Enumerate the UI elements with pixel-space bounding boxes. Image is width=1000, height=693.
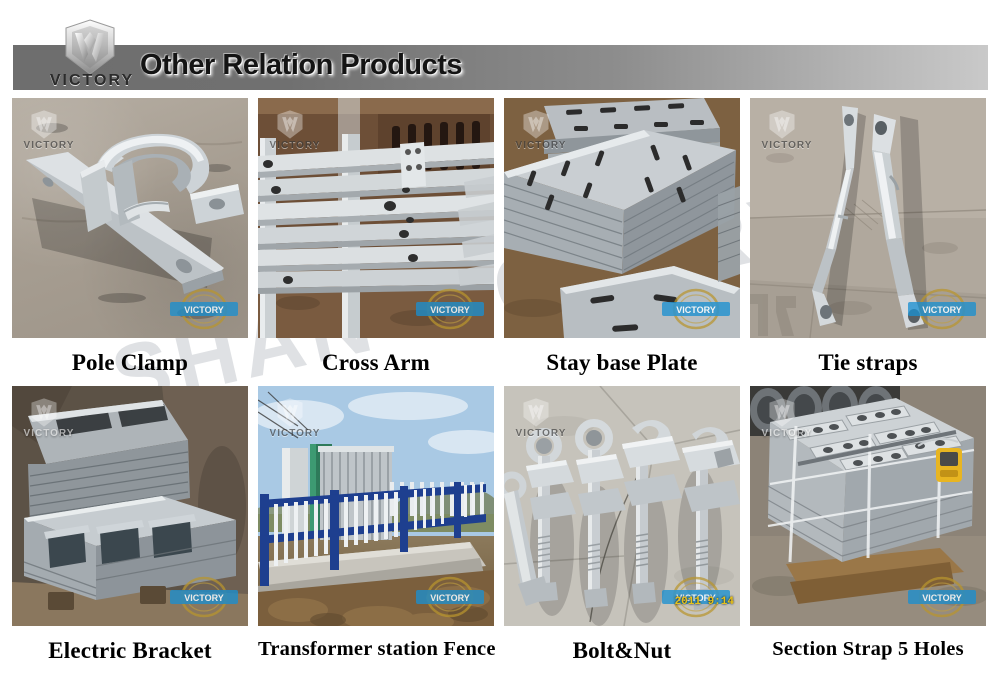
svg-text:VICTORY: VICTORY xyxy=(184,593,224,603)
svg-text:VICTORY: VICTORY xyxy=(676,305,716,315)
product-card-transformer-station-fence[interactable]: VICTORY VICTORY Transformer station Fenc… xyxy=(258,386,494,668)
photo-watermark-brand: VICTORY xyxy=(510,428,572,439)
photo-watermark-brand: VICTORY xyxy=(756,140,818,151)
product-label-bolt-and-nut: Bolt&Nut xyxy=(504,626,740,668)
product-label-cross-arm: Cross Arm xyxy=(258,338,494,380)
product-card-tie-straps[interactable]: VICTORY VICTORY Tie straps xyxy=(750,98,986,380)
seal-stamp-icon: VICTORY xyxy=(904,576,980,618)
product-photo-cross-arm: VICTORY VICTORY xyxy=(258,98,494,338)
photo-watermark-brand: VICTORY xyxy=(756,428,818,439)
seal-stamp-icon: VICTORY xyxy=(166,576,242,618)
svg-text:VICTORY: VICTORY xyxy=(184,305,224,315)
svg-text:VICTORY: VICTORY xyxy=(430,305,470,315)
photo-watermark-logo: VICTORY xyxy=(20,394,78,444)
seal-stamp-icon: VICTORY xyxy=(412,288,488,330)
product-photo-pole-clamp: VICTORY VICTORY xyxy=(12,98,248,338)
photo-watermark-logo: VICTORY xyxy=(20,106,78,156)
product-photo-section-strap-5-holes: VICTORY VICTORY xyxy=(750,386,986,626)
product-photo-transformer-station-fence: VICTORY VICTORY xyxy=(258,386,494,626)
product-photo-stay-base-plate: VICTORY VICTORY xyxy=(504,98,740,338)
photo-watermark-brand: VICTORY xyxy=(18,140,80,151)
photo-date-stamp: 2011 9:14 xyxy=(675,596,734,608)
photo-watermark-brand: VICTORY xyxy=(18,428,80,439)
product-card-section-strap-5-holes[interactable]: VICTORY VICTORY Section Strap 5 Holes xyxy=(750,386,986,668)
svg-text:VICTORY: VICTORY xyxy=(430,593,470,603)
product-row: VICTORY VICTORY Pole Clamp xyxy=(0,98,1000,380)
product-label-tie-straps: Tie straps xyxy=(750,338,986,380)
svg-text:VICTORY: VICTORY xyxy=(922,305,962,315)
seal-stamp-icon: VICTORY xyxy=(166,288,242,330)
photo-watermark-logo: VICTORY xyxy=(758,394,816,444)
brand-name: VICTORY xyxy=(46,72,138,90)
photo-watermark-brand: VICTORY xyxy=(510,140,572,151)
victory-hexagon-logo xyxy=(44,18,136,78)
photo-watermark-brand: VICTORY xyxy=(264,428,326,439)
product-catalog-page: SHAN VICTORY xyxy=(0,0,1000,693)
photo-watermark-logo: VICTORY xyxy=(512,394,570,444)
product-photo-electric-bracket: VICTORY VICTORY xyxy=(12,386,248,626)
product-label-transformer-station-fence: Transformer station Fence xyxy=(258,626,494,665)
photo-watermark-logo: VICTORY xyxy=(758,106,816,156)
product-card-bolt-and-nut[interactable]: VICTORY 2011 9:14 VICTORY Bolt&Nut xyxy=(504,386,740,668)
product-photo-tie-straps: VICTORY VICTORY xyxy=(750,98,986,338)
svg-text:VICTORY: VICTORY xyxy=(922,593,962,603)
seal-stamp-icon: VICTORY xyxy=(412,576,488,618)
seal-stamp-icon: VICTORY xyxy=(904,288,980,330)
product-label-stay-base-plate: Stay base Plate xyxy=(504,338,740,380)
seal-stamp-icon: VICTORY xyxy=(658,288,734,330)
product-card-cross-arm[interactable]: VICTORY VICTORY Cross Arm xyxy=(258,98,494,380)
brand-logo: VICTORY xyxy=(44,18,136,92)
photo-watermark-logo: VICTORY xyxy=(266,106,324,156)
product-card-stay-base-plate[interactable]: VICTORY VICTORY Stay base Plate xyxy=(504,98,740,380)
product-card-electric-bracket[interactable]: VICTORY VICTORY Electric Bracket xyxy=(12,386,248,668)
photo-watermark-logo: VICTORY xyxy=(512,106,570,156)
page-header: VICTORY Other Relation Products xyxy=(0,0,1000,96)
product-card-pole-clamp[interactable]: VICTORY VICTORY Pole Clamp xyxy=(12,98,248,380)
photo-watermark-brand: VICTORY xyxy=(264,140,326,151)
product-photo-bolt-and-nut: VICTORY 2011 9:14 VICTORY xyxy=(504,386,740,626)
product-label-section-strap-5-holes: Section Strap 5 Holes xyxy=(750,626,986,665)
product-label-electric-bracket: Electric Bracket xyxy=(12,626,248,668)
photo-watermark-logo: VICTORY xyxy=(266,394,324,444)
product-row: VICTORY VICTORY Electric Bracket xyxy=(0,386,1000,668)
page-title: Other Relation Products xyxy=(140,49,462,82)
product-grid: VICTORY VICTORY Pole Clamp xyxy=(0,98,1000,668)
product-label-pole-clamp: Pole Clamp xyxy=(12,338,248,380)
